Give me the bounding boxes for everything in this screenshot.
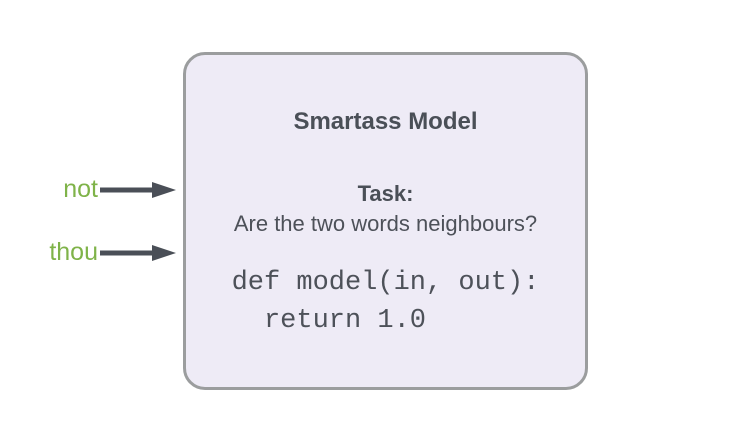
arrow-right-icon [100,180,176,200]
arrow-right-icon-input-1 [100,243,176,263]
arrow-right-icon [100,243,176,263]
task-question: Are the two words neighbours? [186,212,585,235]
model-code-snippet: def model(in, out): return 1.0 [232,265,540,341]
task-heading: Task: [186,182,585,205]
arrow-right-icon-input-0 [100,180,176,200]
input-word-label-thou: thou [49,240,98,265]
input-word-label-not: not [63,177,98,202]
model-box: Smartass Model Task: Are the two words n… [183,52,588,390]
diagram-canvas: not thou Smartass Model Task: Are the tw… [0,0,741,432]
model-title: Smartass Model [293,110,477,134]
task-block: Task: Are the two words neighbours? [186,182,585,235]
